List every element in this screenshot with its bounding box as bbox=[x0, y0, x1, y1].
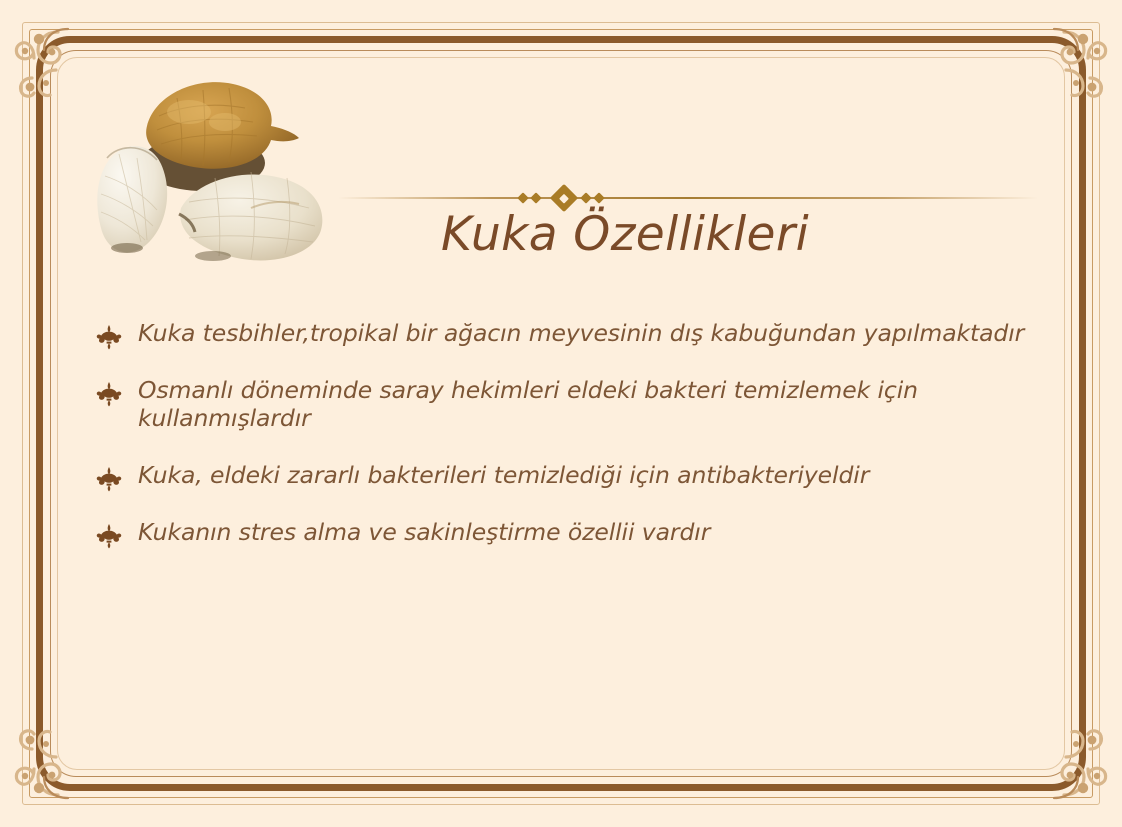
divider-rule bbox=[338, 197, 1038, 199]
list-item-text: Osmanlı döneminde saray hekimleri eldeki… bbox=[138, 376, 918, 431]
divider-pip bbox=[593, 192, 604, 203]
feature-list: Kuka tesbihler,tropikal bir ağacın meyve… bbox=[94, 320, 1052, 546]
divider-pip bbox=[530, 192, 541, 203]
kuka-nut-image bbox=[85, 68, 345, 288]
diamond-divider-ornament-icon bbox=[338, 188, 1038, 206]
fleur-de-lis-bullet-icon bbox=[96, 381, 122, 407]
list-item-text: Kuka tesbihler,tropikal bir ağacın meyve… bbox=[138, 319, 1024, 347]
list-item: Kuka, eldeki zararlı bakterileri temizle… bbox=[94, 462, 1052, 489]
list-item: Kuka tesbihler,tropikal bir ağacın meyve… bbox=[94, 320, 1052, 347]
page-header: Kuka Özellikleri bbox=[338, 188, 1062, 308]
list-item-text: Kuka, eldeki zararlı bakterileri temizle… bbox=[138, 461, 869, 489]
card-content: Kuka Özellikleri Kuka tesbihler,tropikal… bbox=[60, 60, 1062, 767]
divider-pip bbox=[580, 192, 591, 203]
fleur-de-lis-bullet-icon bbox=[96, 324, 122, 350]
kuka-info-card: Kuka Özellikleri Kuka tesbihler,tropikal… bbox=[0, 0, 1122, 827]
list-item-text: Kukanın stres alma ve sakinleştirme özel… bbox=[138, 518, 710, 546]
fleur-de-lis-bullet-icon bbox=[96, 466, 122, 492]
fleur-de-lis-bullet-icon bbox=[96, 523, 122, 549]
list-item: Kukanın stres alma ve sakinleştirme özel… bbox=[94, 519, 1052, 546]
list-item: Osmanlı döneminde saray hekimleri eldeki… bbox=[94, 377, 1052, 432]
divider-pip bbox=[517, 192, 528, 203]
page-title: Kuka Özellikleri bbox=[338, 210, 1062, 259]
